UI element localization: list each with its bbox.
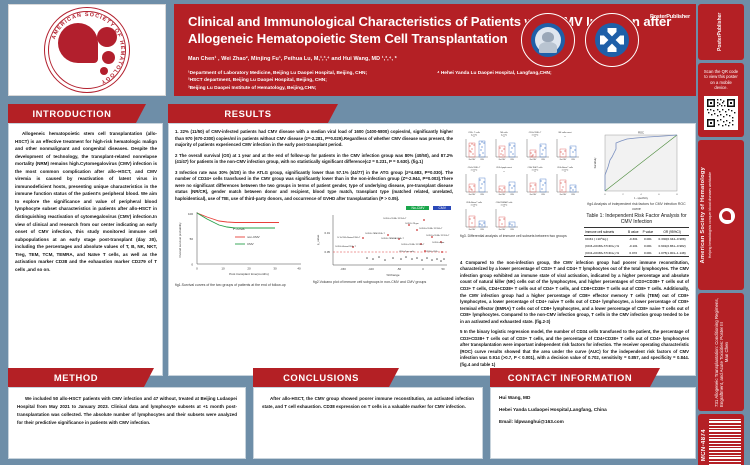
results-paragraph-1: 1. 22% (11/50) of CMV-infected patients … (175, 129, 453, 149)
svg-text:30: 30 (273, 267, 277, 271)
dotplot-panel: CD8+TEMRA T cells (CD8%) * No-CM (490, 199, 519, 233)
contact-section: CONTACT INFORMATION Hui Wang, MD Hebei Y… (490, 368, 696, 459)
qr-note-card: Scan the QR code to view this poster on … (698, 63, 744, 137)
dotplot-panel: CD3+CD38+ T (CD3%) * No-CMV (521, 129, 550, 163)
svg-text:*: * (534, 135, 535, 139)
svg-text:No-CMV: No-CMV (529, 159, 536, 161)
topic-band-text: 731 Allogeneic Transplantation: Conditio… (714, 297, 724, 407)
svg-text:CMV: CMV (571, 194, 576, 196)
svg-text:No-CMV: No-CMV (499, 229, 506, 231)
svg-text:No-CMV: No-CMV (560, 159, 567, 161)
svg-text:No-CMV: No-CMV (529, 194, 536, 196)
svg-text:50: 50 (190, 237, 194, 241)
table-header-row: Immune cell subsets B value P value OR (… (584, 228, 689, 236)
table-header-1: B value (626, 228, 641, 236)
introduction-body: Allogeneic hematopoietic stem cell trans… (8, 123, 163, 376)
sidebar-brand: PosterPublisher (718, 8, 724, 56)
figure-2-volcano-plot: No-CMV CMV 0.01 0.05 (313, 206, 451, 288)
svg-text:CMV: CMV (510, 159, 515, 161)
svg-text:0: 0 (196, 267, 198, 271)
svg-text:CMV: CMV (571, 159, 576, 161)
svg-text:0: 0 (422, 267, 424, 271)
table-1-title: Table 1: Independent Risk Factor Analysi… (584, 213, 689, 225)
dotplot-panel: NK cells (Lym%) * No-CMV (490, 129, 519, 163)
society-vertical-band: American Society of Hematology Helping h… (698, 140, 744, 290)
table-1: Immune cell subsets B value P value OR (… (584, 227, 689, 257)
svg-text:2: 2 (622, 194, 624, 196)
qr-note-text: Scan the QR code to view this poster on … (701, 67, 741, 93)
lu-daopei-institute-logo-icon (520, 12, 576, 68)
svg-text:0: 0 (191, 263, 193, 267)
svg-text:%CD3+CD38+T/CD3+T: %CD3+CD38+T/CD3+T (426, 235, 450, 237)
results-paragraph-4: 4 Compared to the non-infection group, t… (460, 260, 689, 325)
table-cell: 0.001 (641, 243, 656, 250)
results-paragraph-3: 3 Infection rate was 30% (6/20) in the A… (175, 170, 453, 203)
svg-text:*: * (564, 135, 565, 139)
bottom-row: METHOD We included 50 allo-HSCT patients… (8, 368, 696, 459)
american-society-of-hematology-logo-icon: AMERICAN SOCIETY OF HEMATOLOGY (44, 7, 130, 93)
svg-text:NK cells count: NK cells count (558, 131, 571, 134)
dotplot-panel: CD4+CD38+ T (CD4%) * No-CMV (460, 164, 489, 198)
svg-text:No-CMV: No-CMV (499, 159, 506, 161)
volcano-plot-svg: 0.01 0.05 -150 -100 -50 0 50 %Change p_v… (313, 211, 451, 279)
dotplot-panel: CD3+ T cells (Lym%) * No-CMV (460, 129, 489, 163)
table-cell: 0.330(0.344~0.988) (655, 236, 689, 243)
title-band: Clinical and Immunological Characteristi… (174, 4, 696, 96)
svg-text:%CD4+/Lym: %CD4+/Lym (432, 242, 444, 244)
table-cell: CD34 ( ×10⁶/kg ) (584, 236, 626, 243)
contact-name: Hui Wang, MD (499, 395, 687, 400)
dotplot-panel: CD8+Naive T cells (CD8%) * No-CM (460, 199, 489, 233)
figure-2-caption: fig2.Volcano plot of immune cell subgrou… (313, 280, 451, 285)
table-row: (CD4+CD38+T/CD4+) % 0.072 0.001 1.075(1.… (584, 249, 689, 256)
poster-header: AMERICAN SOCIETY OF HEMATOLOGY Clinical … (8, 4, 696, 100)
affiliation-4: ⁴ Hehei Yanda Lu Daopei Hospital, Langfa… (437, 70, 552, 77)
affiliation-3: ³Beijing Lu Daopei Institute of Hematolo… (188, 85, 367, 92)
svg-text:Post transplant time(months): Post transplant time(months) (229, 272, 269, 276)
qr-card: PosterPublisher (698, 4, 744, 60)
svg-text:No-CMV: No-CMV (499, 194, 506, 196)
contact-affiliation: Hebei Yanda Ludaopei Hospital,Langfang, … (499, 407, 687, 412)
abstract-barcode: MCN-4874 (698, 414, 744, 465)
contact-heading: CONTACT INFORMATION (490, 368, 650, 387)
abstract-id: MCN-4874 (701, 429, 707, 461)
table-header-3: OR (95%CI) (655, 228, 689, 236)
table-cell: -0.301 (626, 236, 641, 243)
figure-3-and-4-row: CD3+ T cells (Lym%) * No-CMV (460, 129, 689, 257)
affiliation-2: ²HSCT department, Beijing Lu Daopei Hosp… (188, 77, 367, 84)
svg-text:*: * (564, 170, 565, 174)
svg-text:0: 0 (604, 194, 606, 196)
svg-text:CMV: CMV (480, 159, 485, 161)
method-text: We included 50 allo-HSCT patients with C… (17, 395, 237, 427)
svg-text:CMV: CMV (247, 243, 254, 247)
table-cell: 0.901(0.861~0.982) (655, 243, 689, 250)
table-cell: 0.001 (641, 249, 656, 256)
svg-text:-100: -100 (368, 267, 374, 271)
svg-text:non-CMV: non-CMV (247, 236, 260, 240)
svg-text:No-CMV: No-CMV (469, 194, 476, 196)
conclusions-text: After allo-HSCT, the CMV group showed po… (262, 395, 474, 411)
svg-text:*: * (504, 205, 505, 209)
introduction-heading: INTRODUCTION (8, 104, 136, 123)
publisher-name: PosterPublisher (650, 14, 690, 21)
svg-text:8: 8 (676, 194, 678, 196)
svg-text:CD3+Lymph count: CD3+Lymph count (496, 166, 512, 169)
contact-body: Hui Wang, MD Hebei Yanda Ludaopei Hospit… (490, 387, 696, 459)
svg-text:*: * (473, 205, 474, 209)
svg-text:%CD4+Naive/CD4+T: %CD4+Naive/CD4+T (335, 246, 356, 248)
svg-text:-150: -150 (340, 267, 346, 271)
volcano-legend-cmv: CMV (433, 206, 451, 210)
figure-4-roc-and-table: ROC 0 2 4 6 8 1 - specificity Sensitivit… (584, 129, 689, 257)
method-heading: METHOD (8, 368, 144, 387)
dotplot-grid: CD3+ T cells (Lym%) * No-CMV (460, 129, 580, 233)
svg-text:-50: -50 (397, 267, 401, 271)
results-body: 1. 22% (11/50) of CMV-infected patients … (168, 123, 696, 376)
institution-logos (520, 12, 640, 68)
contact-email[interactable]: Email: ldpwanghui@163.com (499, 419, 687, 424)
table-cell: 0.072 (626, 249, 641, 256)
method-section: METHOD We included 50 allo-HSCT patients… (8, 368, 246, 459)
right-sidebar: PosterPublisher Scan the QR code to view… (698, 4, 748, 461)
affiliations-right: ⁴ Hehei Yanda Lu Daopei Hospital, Langfa… (437, 70, 552, 92)
poster-canvas: AMERICAN SOCIETY OF HEMATOLOGY Clinical … (0, 0, 750, 465)
svg-text:No-CMV: No-CMV (469, 229, 476, 231)
svg-text:0.05: 0.05 (325, 250, 331, 254)
results-paragraph-2: 2 The overall survival (OS) at 1 year an… (175, 153, 453, 166)
table-cell: 0.001 (641, 236, 656, 243)
table-cell: 1.075(1.001~1.148) (655, 249, 689, 256)
svg-text:CD56+CD3+: CD56+CD3+ (426, 251, 439, 253)
svg-text:%CD8+TEMRA/CD8+T: %CD8+TEMRA/CD8+T (381, 237, 405, 240)
roc-title: ROC (638, 130, 644, 134)
qr-code-icon[interactable] (704, 96, 738, 130)
lu-daopei-medical-logo-icon (584, 12, 640, 68)
svg-text:10: 10 (221, 267, 225, 271)
society-band-title: American Society of Hematology (700, 167, 706, 263)
affiliations-left: ¹Department of Laboratory Medicine, Beij… (188, 70, 367, 92)
svg-text:100: 100 (188, 212, 193, 216)
conclusions-section: CONCLUSIONS After allo-HSCT, the CMV gro… (253, 368, 483, 459)
figure-1-caption: fig1.Survival curves of the two groups o… (175, 283, 307, 288)
svg-text:% %CD8+Naive/CD8+T: % %CD8+Naive/CD8+T (337, 237, 361, 239)
svg-text:20: 20 (247, 267, 251, 271)
volcano-legend-nocmv: No-CMV (406, 206, 429, 210)
svg-text:No-CMV: No-CMV (469, 159, 476, 161)
svg-text:p_value: p_value (316, 235, 320, 246)
km-legend: non-CMV CMV (235, 236, 260, 247)
svg-text:CMV: CMV (541, 159, 546, 161)
table-cell: -0.101 (626, 243, 641, 250)
svg-text:%CD8+TEM/CD8+T: %CD8+TEM/CD8+T (365, 233, 385, 235)
svg-text:50: 50 (441, 267, 445, 271)
poster-publisher-logo-icon: PosterPublisher (650, 14, 690, 21)
svg-text:*: * (473, 135, 474, 139)
svg-text:%Change: %Change (386, 273, 400, 277)
svg-text:%CD4+CD38+T/CD4+T: %CD4+CD38+T/CD4+T (383, 218, 407, 220)
results-left-column: 1. 22% (11/50) of CMV-infected patients … (175, 129, 453, 370)
table-cell: (CD3+CD38+T/CD3+) % (584, 243, 626, 250)
svg-text:%CD8+CD38+T/CD8+T: %CD8+CD38+T/CD8+T (419, 228, 443, 230)
svg-text:Sensitivity: Sensitivity (594, 157, 597, 169)
table-row: CD34 ( ×10⁶/kg ) -0.301 0.001 0.330(0.34… (584, 236, 689, 243)
introduction-section: INTRODUCTION Allogeneic hematopoietic st… (8, 104, 163, 376)
table-row: (CD3+CD38+T/CD3+) % -0.101 0.001 0.901(0… (584, 243, 689, 250)
barcode-icon (709, 419, 741, 465)
conclusions-body: After allo-HSCT, the CMV group showed po… (253, 387, 483, 459)
table-header-2: P value (641, 228, 656, 236)
results-paragraph-5: 5 In the binary logistic regression mode… (460, 329, 689, 368)
dotplot-panel: NK cells count * No-CMV CMV (551, 129, 580, 163)
topic-vertical-band: 731 Allogeneic Transplantation: Conditio… (698, 293, 744, 411)
affiliation-1: ¹Department of Laboratory Medicine, Beij… (188, 70, 367, 77)
results-section: RESULTS 1. 22% (11/50) of CMV-infected p… (168, 104, 696, 376)
ash-small-logo-icon (719, 208, 735, 224)
svg-text:CD4+/Lym cells: CD4+/Lym cells (399, 251, 415, 253)
table-cell: (CD4+CD38+T/CD4+) % (584, 249, 626, 256)
figure-4-caption: fig4.Analysis of independent risk factor… (584, 202, 689, 211)
figure-1-survival-curve: 0 50 100 0 10 20 30 40 Post transplant t… (175, 206, 307, 288)
svg-text:6: 6 (658, 194, 660, 196)
figure-3-caption: fig3. Differential analysis of immune ce… (460, 234, 580, 239)
table-header-0: Immune cell subsets (584, 228, 626, 236)
svg-text:*: * (504, 135, 505, 139)
svg-text:CMV: CMV (510, 229, 515, 231)
dotplot-panel: CD8+TEM T cells (CD8%) * No-CMV (521, 164, 550, 198)
ash-logo-box: AMERICAN SOCIETY OF HEMATOLOGY (8, 4, 166, 96)
topic-band-author: Man Chen (724, 342, 729, 362)
km-plot-svg: 0 50 100 0 10 20 30 40 Post transplant t… (175, 206, 307, 282)
society-band-subtitle: Helping hematologists conquer blood dise… (708, 172, 712, 258)
svg-text:Overall survival probability: Overall survival probability (178, 222, 182, 258)
svg-text:CMV: CMV (541, 194, 546, 196)
figure-3-dotplots: CD3+ T cells (Lym%) * No-CMV (460, 129, 580, 257)
svg-text:%CD3+T/Lym: %CD3+T/Lym (405, 223, 419, 225)
svg-text:4: 4 (640, 194, 642, 196)
dotplot-panel: CD3+Lymph count * No-CMV CMV (490, 164, 519, 198)
results-heading: RESULTS (168, 104, 328, 123)
results-right-column: CD3+ T cells (Lym%) * No-CMV (460, 129, 689, 370)
svg-text:%CD4+CD38+T/CD4+T: %CD4+CD38+T/CD4+T (401, 244, 425, 246)
svg-text:*: * (534, 170, 535, 174)
svg-text:CMV: CMV (480, 229, 485, 231)
svg-text:0.01: 0.01 (325, 231, 331, 235)
method-body: We included 50 allo-HSCT patients with C… (8, 387, 246, 459)
figure-row: 0 50 100 0 10 20 30 40 Post transplant t… (175, 206, 453, 288)
svg-text:1 - specificity: 1 - specificity (634, 197, 649, 200)
svg-text:*: * (473, 170, 474, 174)
introduction-text: Allogeneic hematopoietic stem cell trans… (15, 130, 157, 273)
svg-text:*: * (504, 170, 505, 174)
conclusions-heading: CONCLUSIONS (253, 368, 389, 387)
roc-plot-svg: ROC 0 2 4 6 8 1 - specificity Sensitivit… (587, 129, 687, 201)
svg-text:CMV: CMV (510, 194, 515, 196)
dotplot-panel: CD4+Naive T cells (CD4%) * No-CM (551, 164, 580, 198)
svg-text:No-CMV: No-CMV (560, 194, 567, 196)
svg-text:CMV: CMV (480, 194, 485, 196)
svg-text:40: 40 (297, 267, 301, 271)
